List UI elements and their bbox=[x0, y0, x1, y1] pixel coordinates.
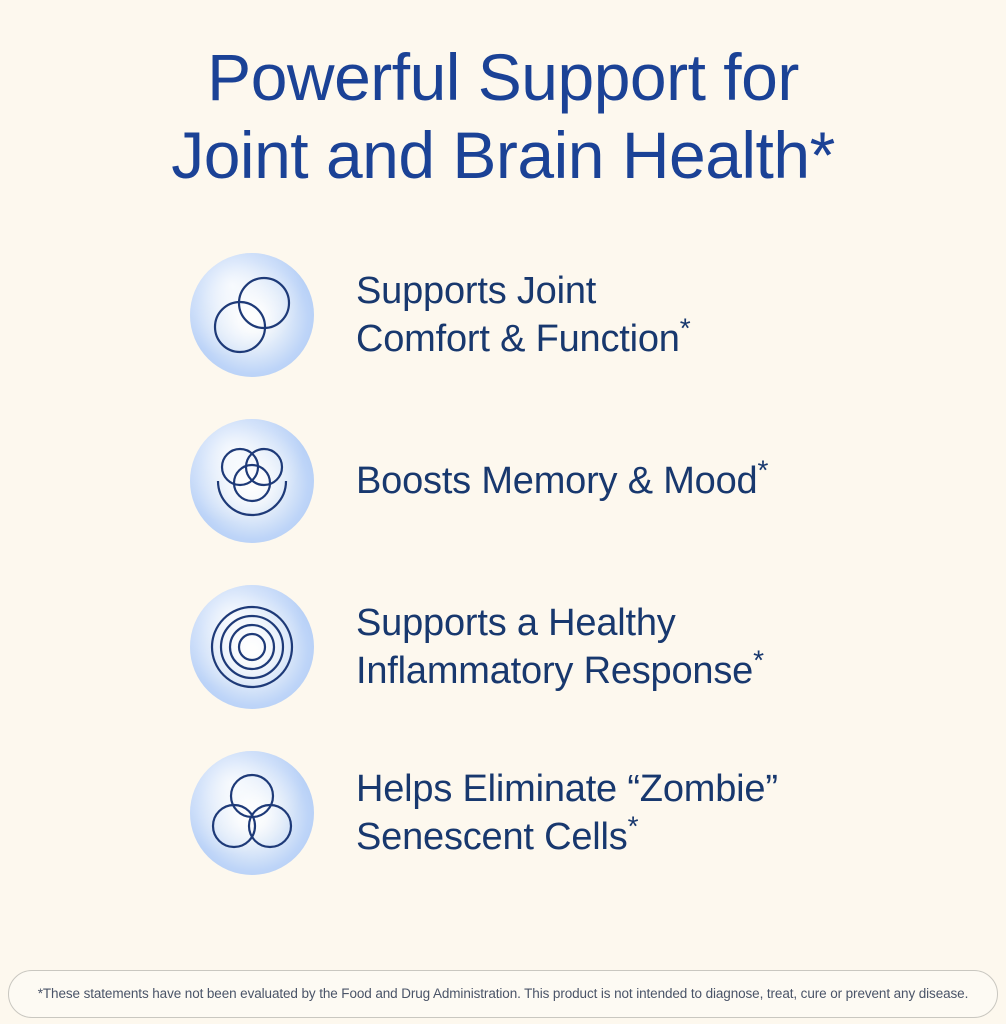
three-circles-cluster-icon bbox=[190, 751, 314, 875]
benefit-asterisk: * bbox=[628, 810, 639, 841]
benefit-item-memory-mood: Boosts Memory & Mood* bbox=[0, 398, 1006, 564]
benefit-asterisk: * bbox=[753, 644, 764, 675]
benefits-list: Supports Joint Comfort & Function* Boost… bbox=[0, 232, 1006, 896]
two-overlapping-circles-icon bbox=[190, 253, 314, 377]
benefit-label-text: Supports a Healthy Inflammatory Response bbox=[356, 602, 753, 692]
benefit-asterisk: * bbox=[757, 454, 768, 485]
concentric-rings-icon bbox=[190, 585, 314, 709]
benefit-item-senescent-cells: Helps Eliminate “Zombie” Senescent Cells… bbox=[0, 730, 1006, 896]
fda-disclaimer-box: *These statements have not been evaluate… bbox=[8, 970, 998, 1018]
page-title: Powerful Support for Joint and Brain Hea… bbox=[0, 38, 1006, 194]
venn-circles-smile-icon bbox=[190, 419, 314, 543]
benefit-item-inflammatory-response: Supports a Healthy Inflammatory Response… bbox=[0, 564, 1006, 730]
benefit-label: Supports a Healthy Inflammatory Response… bbox=[356, 599, 764, 695]
benefit-label-text: Supports Joint Comfort & Function bbox=[356, 270, 680, 360]
benefit-label: Supports Joint Comfort & Function* bbox=[356, 267, 690, 363]
benefit-label: Helps Eliminate “Zombie” Senescent Cells… bbox=[356, 765, 778, 861]
benefit-label-text: Helps Eliminate “Zombie” Senescent Cells bbox=[356, 768, 778, 858]
benefit-item-joint-comfort: Supports Joint Comfort & Function* bbox=[0, 232, 1006, 398]
fda-disclaimer-text: *These statements have not been evaluate… bbox=[14, 986, 992, 1002]
benefit-label: Boosts Memory & Mood* bbox=[356, 457, 768, 505]
promo-panel: Powerful Support for Joint and Brain Hea… bbox=[0, 0, 1006, 1024]
page-title-text: Powerful Support for Joint and Brain Hea… bbox=[171, 40, 835, 192]
benefit-label-text: Boosts Memory & Mood bbox=[356, 460, 757, 502]
benefit-asterisk: * bbox=[680, 312, 691, 343]
